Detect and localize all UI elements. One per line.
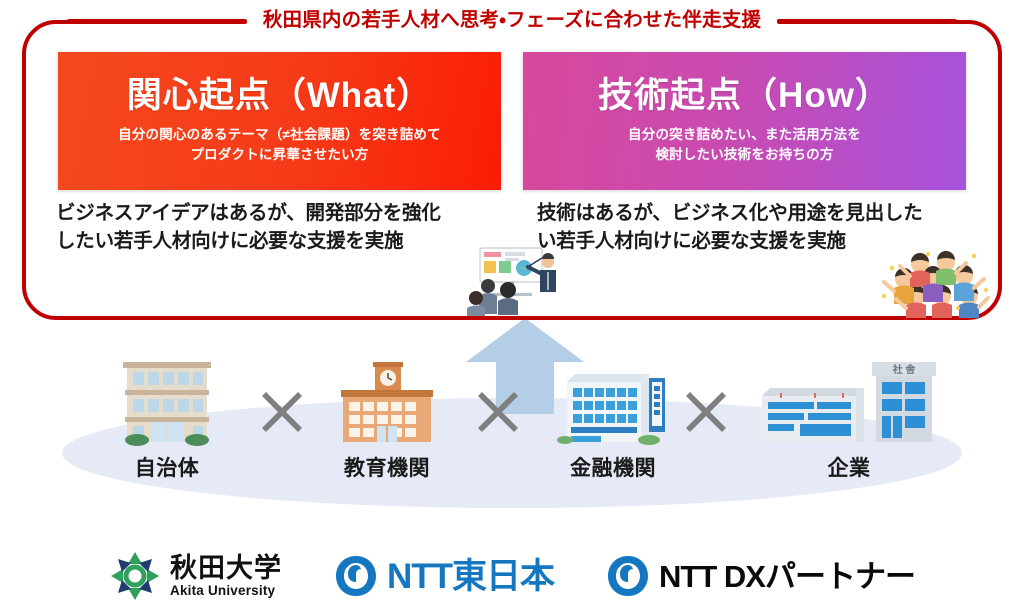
office-building-icon [115,352,219,448]
entry-point-panels: 関心起点（What） 自分の関心のあるテーマ（≠社会課題）を突き詰めて プロダク… [22,52,1002,192]
description-what-line2: したい若手人材向けに必要な支援を実施 [56,228,501,256]
logo-row: 秋田大学 Akita University NTT東日本 NTT DXパートナー [0,540,1024,612]
description-how-line1: 技術はあるが、ビジネス化や用途を見出した [537,200,982,228]
svg-text:社 舎: 社 舎 [892,363,917,376]
cheering-people-illustration [876,246,994,318]
partner-item-local-government[interactable]: 自治体 [102,352,232,482]
x-separator-icon-2 [474,388,522,436]
x-separator-icon-3 [682,388,730,436]
ntt-logo-mark-dx [606,554,650,598]
partner-label-financial: 金融機関 [528,452,698,482]
panel-how[interactable]: 技術起点（How） 自分の突き詰めたい、また活用方法を 検討したい技術をお持ちの… [523,52,966,190]
akita-university-emblem [109,550,161,602]
description-what: ビジネスアイデアはあるが、開発部分を強化 したい若手人材向けに必要な支援を実施 [56,200,501,270]
x-separator-icon-1 [258,388,306,436]
bank-building-icon [553,362,673,448]
ntt-logo-mark-east [334,554,378,598]
akita-university-jp: 秋田大学 [170,555,282,582]
partner-row: 自治体 [62,352,962,502]
company-building-icon: 社 舎 [754,352,944,448]
panel-how-subtitle: 自分の突き詰めたい、また活用方法を 検討したい技術をお持ちの方 [628,125,861,166]
description-what-line1: ビジネスアイデアはあるが、開発部分を強化 [56,200,501,228]
school-building-icon [329,358,445,448]
partner-label-local-government: 自治体 [102,452,232,482]
partner-label-company: 企業 [734,452,964,482]
logo-ntt-dx-partner[interactable]: NTT DXパートナー [606,554,915,598]
partner-label-education: 教育機関 [312,452,462,482]
page-title-text: 秋田県内の若手人材へ思考・フェーズに合わせた伴走支援 [257,11,767,31]
page-title: 秋田県内の若手人材へ思考・フェーズに合わせた伴走支援 [0,6,1024,36]
title-rule-right [777,19,957,24]
partner-item-company[interactable]: 社 舎 企業 [734,352,964,482]
ntt-dx-partner-wordmark: NTT DXパートナー [659,561,915,592]
partner-item-financial[interactable]: 金融機関 [528,362,698,482]
logo-ntt-east[interactable]: NTT東日本 [334,554,554,598]
panel-what-subtitle-line1: 自分の関心のあるテーマ（≠社会課題）を突き詰めて [118,125,441,145]
panel-how-subtitle-line1: 自分の突き詰めたい、また活用方法を [628,125,861,145]
panel-what-subtitle-line2: プロダクトに昇華させたい方 [118,145,441,165]
akita-university-wordmark: 秋田大学 Akita University [170,555,282,598]
panel-how-title: 技術起点（How） [598,77,891,116]
panel-what-title: 関心起点（What） [127,77,433,116]
panel-how-subtitle-line2: 検討したい技術をお持ちの方 [628,145,861,165]
partner-item-education[interactable]: 教育機関 [312,358,462,482]
panel-what-subtitle: 自分の関心のあるテーマ（≠社会課題）を突き詰めて プロダクトに昇華させたい方 [118,125,441,166]
slide-canvas: 秋田県内の若手人材へ思考・フェーズに合わせた伴走支援 関心起点（What） 自分… [0,0,1024,612]
panel-what[interactable]: 関心起点（What） 自分の関心のあるテーマ（≠社会課題）を突き詰めて プロダク… [58,52,501,190]
ntt-east-wordmark: NTT東日本 [387,559,554,594]
meeting-presentation-illustration [462,246,572,316]
title-rule-left [67,19,247,24]
logo-akita-university[interactable]: 秋田大学 Akita University [109,550,282,602]
akita-university-en: Akita University [170,584,282,598]
